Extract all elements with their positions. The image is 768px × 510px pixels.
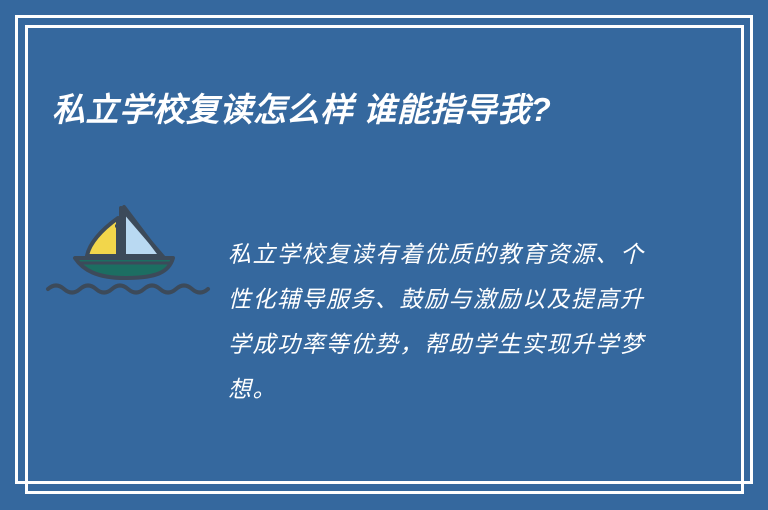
poster-canvas: 私立学校复读怎么样 谁能指导我? xyxy=(0,0,768,510)
page-title: 私立学校复读怎么样 谁能指导我? xyxy=(52,85,652,135)
body-paragraph: 私立学校复读有着优质的教育资源、个性化辅导服务、鼓励与激励以及提高升学成功率等优… xyxy=(228,233,648,413)
sailboat-graphic xyxy=(48,207,208,293)
sailboat-illustration xyxy=(45,190,220,295)
